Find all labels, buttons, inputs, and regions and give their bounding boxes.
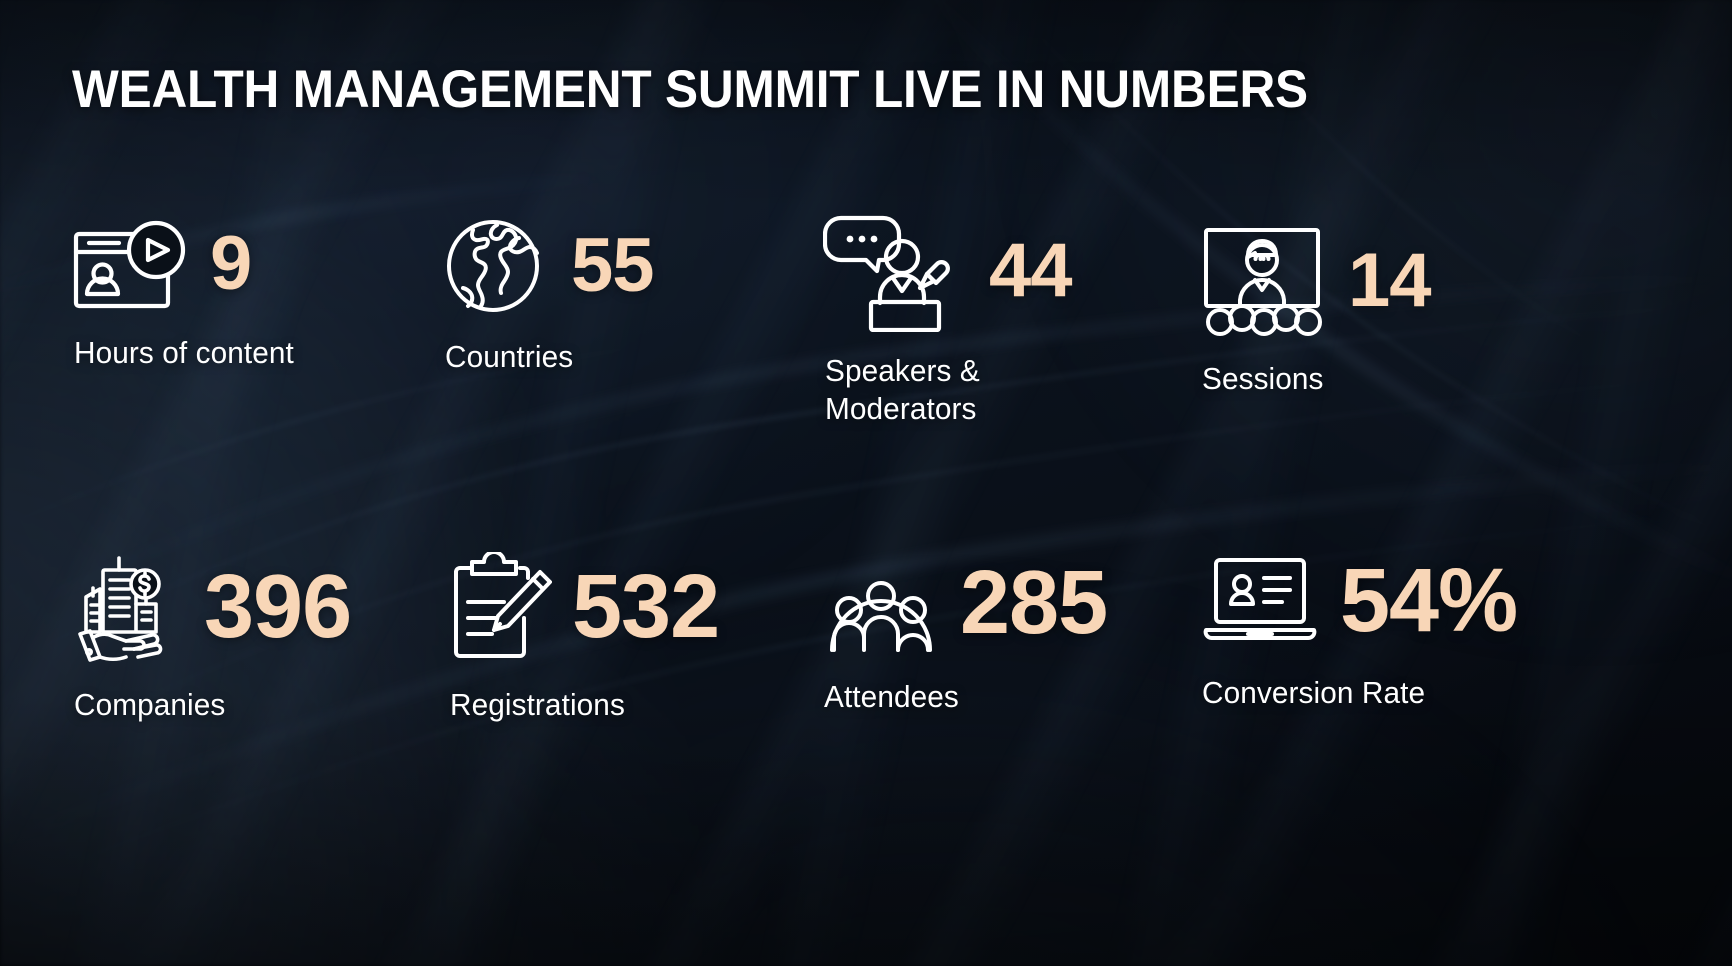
stat-value: 55 (571, 230, 654, 302)
stat-hours-of-content: 9 Hours of content (72, 218, 303, 372)
stat-label: Sessions (1202, 360, 1421, 398)
slide-canvas: WEALTH MANAGEMENT SUMMIT LIVE IN NUMBERS (0, 0, 1732, 966)
stat-value: 285 (960, 561, 1107, 647)
stat-headline: 9 (72, 218, 303, 310)
globe-icon (443, 218, 551, 314)
stat-headline: 285 (822, 552, 1107, 656)
slide-content: WEALTH MANAGEMENT SUMMIT LIVE IN NUMBERS (0, 0, 1732, 966)
people-group-icon (822, 552, 940, 656)
stat-headline: 55 (443, 218, 654, 314)
presentation-audience-icon (1200, 224, 1328, 338)
stat-value: 14 (1348, 245, 1431, 317)
stat-value: 44 (989, 235, 1072, 307)
clipboard-pencil-icon (448, 552, 552, 664)
stat-value: 532 (572, 565, 719, 651)
stat-label: Attendees (824, 678, 1096, 716)
stat-headline: 396 (72, 552, 351, 664)
stat-headline: 44 (823, 210, 1072, 332)
stat-label: Conversion Rate (1202, 674, 1505, 712)
stat-label: Registrations (450, 686, 708, 724)
stat-headline: 532 (448, 552, 719, 664)
page-title: WEALTH MANAGEMENT SUMMIT LIVE IN NUMBERS (72, 62, 1308, 118)
stat-label: Companies (74, 686, 340, 724)
stat-value: 54% (1340, 559, 1517, 645)
stat-label: Hours of content (74, 334, 294, 372)
stats-grid: 9 Hours of content (0, 196, 1732, 496)
stats-row-2: 396 Companies (0, 552, 1732, 852)
stat-speakers-and-moderators: 44 Speakers & Moderators (823, 210, 1072, 428)
stat-companies: 396 Companies (72, 552, 351, 724)
stat-registrations: 532 Registrations (448, 552, 719, 724)
stat-headline: 54% (1200, 552, 1517, 652)
stat-value: 9 (210, 228, 251, 300)
stats-row-1: 9 Hours of content (0, 196, 1732, 496)
speaker-podium-icon (823, 210, 969, 332)
stat-conversion-rate: 54% Conversion Rate (1200, 552, 1517, 712)
buildings-on-hand-icon (72, 552, 184, 664)
stat-value: 396 (204, 565, 351, 651)
stat-label: Countries (445, 338, 645, 376)
stat-sessions: 14 Sessions (1200, 224, 1431, 398)
stat-headline: 14 (1200, 224, 1431, 338)
stat-attendees: 285 Attendees (822, 552, 1107, 716)
stat-countries: 55 Countries (443, 218, 654, 376)
stat-label: Speakers & Moderators (825, 352, 1062, 428)
laptop-profile-icon (1200, 552, 1320, 652)
video-webinar-screen-icon (72, 218, 190, 310)
